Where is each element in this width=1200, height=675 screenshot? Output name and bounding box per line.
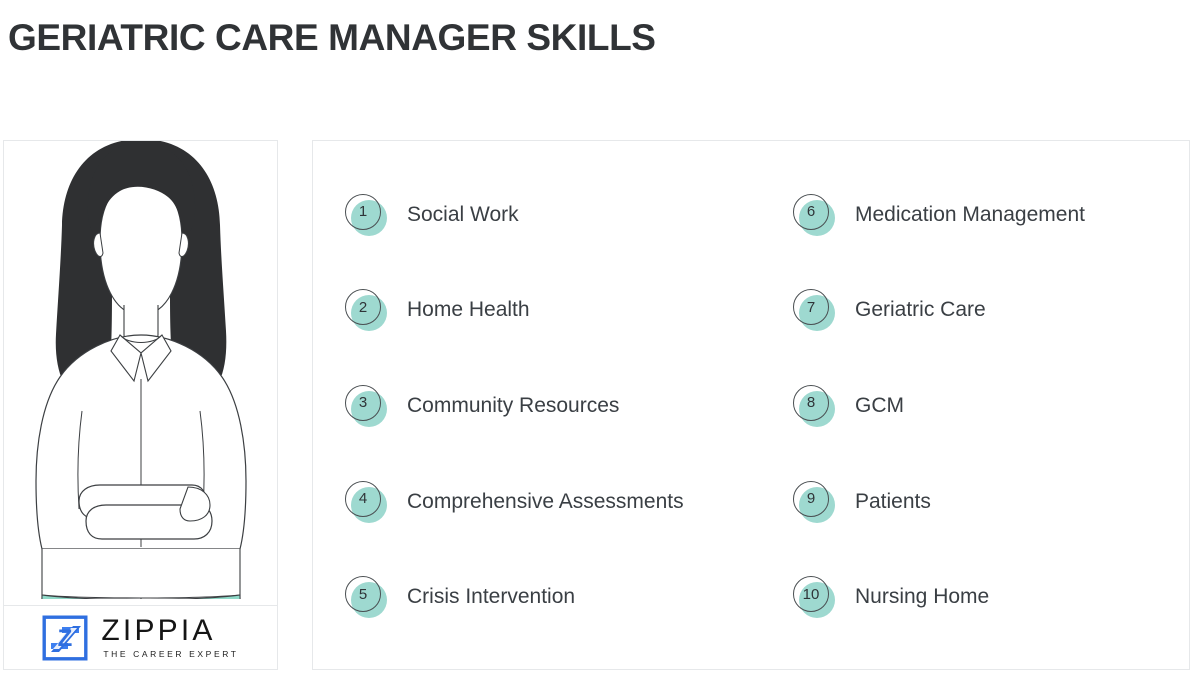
skill-number-badge: 6 — [793, 194, 835, 236]
skill-number-badge: 3 — [345, 385, 387, 427]
skill-number-badge: 2 — [345, 289, 387, 331]
badge-number: 2 — [345, 289, 381, 325]
list-item[interactable]: 2 Home Health — [313, 263, 751, 359]
badge-number: 1 — [345, 194, 381, 230]
list-item[interactable]: 9 Patients — [751, 454, 1189, 550]
skill-number-badge: 5 — [345, 576, 387, 618]
skill-label: GCM — [855, 393, 904, 419]
skill-label: Crisis Intervention — [407, 584, 575, 610]
illustration-area — [4, 141, 277, 605]
page-title: GERIATRIC CARE MANAGER SKILLS — [8, 16, 656, 60]
skills-list: 1 Social Work 2 Home Health 3 Community … — [313, 141, 1189, 669]
zippia-z-logo-icon: Z — [42, 615, 88, 661]
skill-label: Home Health — [407, 297, 530, 323]
list-item[interactable]: 5 Crisis Intervention — [313, 549, 751, 645]
list-item[interactable]: 1 Social Work — [313, 167, 751, 263]
badge-number: 6 — [793, 194, 829, 230]
list-item[interactable]: 4 Comprehensive Assessments — [313, 454, 751, 550]
woman-arms-crossed-illustration — [16, 141, 266, 599]
zippia-logo[interactable]: Z ZIPPIA THE CAREER EXPERT — [4, 606, 277, 670]
badge-number: 7 — [793, 289, 829, 325]
badge-number: 8 — [793, 385, 829, 421]
skill-number-badge: 4 — [345, 481, 387, 523]
skill-label: Geriatric Care — [855, 297, 986, 323]
badge-number: 3 — [345, 385, 381, 421]
zippia-name: ZIPPIA — [101, 616, 238, 646]
list-item[interactable]: 6 Medication Management — [751, 167, 1189, 263]
skill-label: Patients — [855, 489, 931, 515]
badge-number: 4 — [345, 481, 381, 517]
illustration-card: Z ZIPPIA THE CAREER EXPERT — [3, 140, 278, 670]
badge-number: 10 — [793, 576, 829, 612]
badge-number: 5 — [345, 576, 381, 612]
zippia-wordmark: ZIPPIA THE CAREER EXPERT — [101, 616, 238, 661]
skill-number-badge: 10 — [793, 576, 835, 618]
skill-number-badge: 9 — [793, 481, 835, 523]
skill-number-badge: 8 — [793, 385, 835, 427]
list-item[interactable]: 3 Community Resources — [313, 358, 751, 454]
skill-number-badge: 7 — [793, 289, 835, 331]
zippia-tagline: THE CAREER EXPERT — [103, 647, 238, 661]
skill-label: Community Resources — [407, 393, 619, 419]
list-item[interactable]: 7 Geriatric Care — [751, 263, 1189, 359]
skill-number-badge: 1 — [345, 194, 387, 236]
skill-label: Nursing Home — [855, 584, 989, 610]
skills-card: 1 Social Work 2 Home Health 3 Community … — [312, 140, 1190, 670]
skill-label: Social Work — [407, 202, 519, 228]
list-item[interactable]: 10 Nursing Home — [751, 549, 1189, 645]
badge-number: 9 — [793, 481, 829, 517]
skill-label: Medication Management — [855, 202, 1085, 228]
svg-text:Z: Z — [58, 625, 73, 652]
list-item[interactable]: 8 GCM — [751, 358, 1189, 454]
skill-label: Comprehensive Assessments — [407, 489, 684, 515]
